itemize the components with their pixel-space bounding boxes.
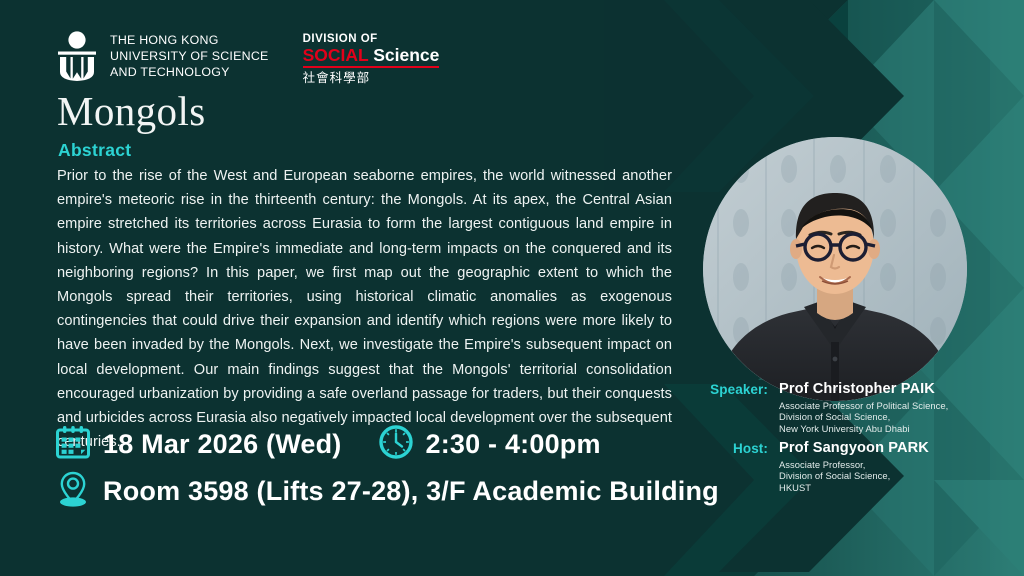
dss-division-of-text: DIVISION OF <box>303 33 440 45</box>
date-time-row: 18 Mar 2026 (Wed) <box>55 424 719 465</box>
host-entry: Host: Prof Sangyoon PARK Associate Profe… <box>680 440 1000 493</box>
clock-icon <box>378 424 414 465</box>
division-of-social-science-logo: DIVISION OF SOCIAL Science 社會科學部 <box>303 30 440 85</box>
abstract-body: Prior to the rise of the West and Europe… <box>57 164 672 454</box>
speaker-info: Prof Christopher PAIK Associate Professo… <box>779 381 948 434</box>
speaker-portrait <box>703 137 967 401</box>
speaker-entry: Speaker: Prof Christopher PAIK Associate… <box>680 381 1000 434</box>
host-label: Host: <box>680 440 768 456</box>
hkust-shield-icon <box>55 30 99 82</box>
dss-science-text: Science <box>368 45 439 65</box>
abstract-heading: Abstract <box>58 140 131 161</box>
event-venue: Room 3598 (Lifts 27-28), 3/F Academic Bu… <box>103 476 719 507</box>
dss-title-line: SOCIAL Science <box>303 46 440 68</box>
host-name: Prof Sangyoon PARK <box>779 440 929 458</box>
date-item: 18 Mar 2026 (Wed) <box>55 424 342 465</box>
calendar-icon <box>55 424 91 465</box>
host-affiliation: Associate Professor, Division of Social … <box>779 459 929 494</box>
location-pin-icon <box>55 469 91 514</box>
speaker-label: Speaker: <box>680 381 768 397</box>
people-block: Speaker: Prof Christopher PAIK Associate… <box>680 381 1000 500</box>
logo-row: THE HONG KONG UNIVERSITY OF SCIENCE AND … <box>55 30 439 85</box>
time-item: 2:30 - 4:00pm <box>378 424 601 465</box>
speaker-affiliation: Associate Professor of Political Science… <box>779 400 948 435</box>
venue-item: Room 3598 (Lifts 27-28), 3/F Academic Bu… <box>55 469 719 514</box>
event-time: 2:30 - 4:00pm <box>426 429 601 460</box>
avatar <box>703 137 967 401</box>
dss-chinese-text: 社會科學部 <box>303 71 440 85</box>
hkust-wordmark: THE HONG KONG UNIVERSITY OF SCIENCE AND … <box>110 32 269 81</box>
event-date: 18 Mar 2026 (Wed) <box>103 429 342 460</box>
venue-row: Room 3598 (Lifts 27-28), 3/F Academic Bu… <box>55 469 719 514</box>
page-title: Mongols <box>57 90 206 133</box>
dss-social-text: SOCIAL <box>303 45 369 65</box>
event-details: 18 Mar 2026 (Wed) <box>55 424 719 518</box>
host-info: Prof Sangyoon PARK Associate Professor, … <box>779 440 929 493</box>
speaker-name: Prof Christopher PAIK <box>779 381 948 399</box>
seminar-poster: THE HONG KONG UNIVERSITY OF SCIENCE AND … <box>0 0 1024 576</box>
hkust-logo: THE HONG KONG UNIVERSITY OF SCIENCE AND … <box>55 30 269 82</box>
